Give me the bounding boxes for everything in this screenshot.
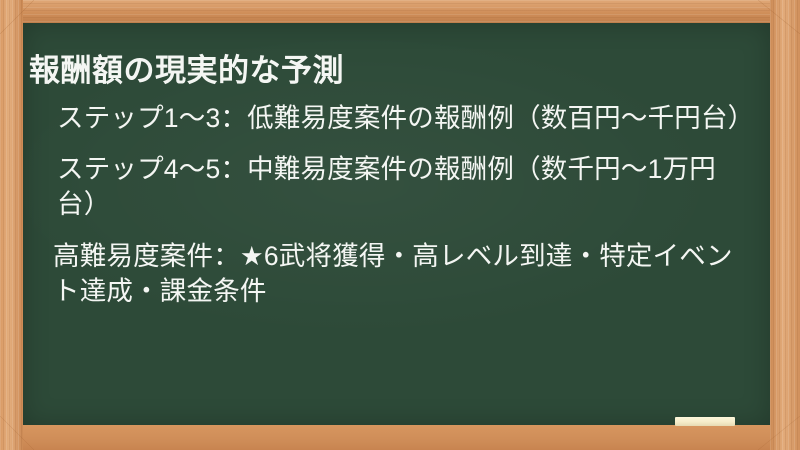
frame-rail-top — [0, 0, 800, 23]
frame-rail-right — [770, 0, 800, 450]
bullet-list: ステップ1〜3：低難易度案件の報酬例（数百円〜千円台） ステップ4〜5：中難易度… — [53, 101, 753, 325]
frame-rail-bottom-ledge — [0, 425, 800, 450]
list-item: ステップ1〜3：低難易度案件の報酬例（数百円〜千円台） — [57, 101, 753, 136]
list-item: ステップ4〜5：中難易度案件の報酬例（数千円〜1万円台） — [57, 152, 753, 222]
chalkboard-slide: 報酬額の現実的な予測 ステップ1〜3：低難易度案件の報酬例（数百円〜千円台） ス… — [0, 0, 800, 450]
page-title: 報酬額の現実的な予測 — [29, 52, 749, 91]
frame-rail-left — [0, 0, 23, 450]
list-item: 高難易度案件：★6武将獲得・高レベル到達・特定イベント達成・課金条件 — [53, 239, 753, 309]
chalkboard-surface: 報酬額の現実的な予測 ステップ1〜3：低難易度案件の報酬例（数百円〜千円台） ス… — [23, 23, 770, 425]
chalk-stick — [675, 417, 735, 426]
